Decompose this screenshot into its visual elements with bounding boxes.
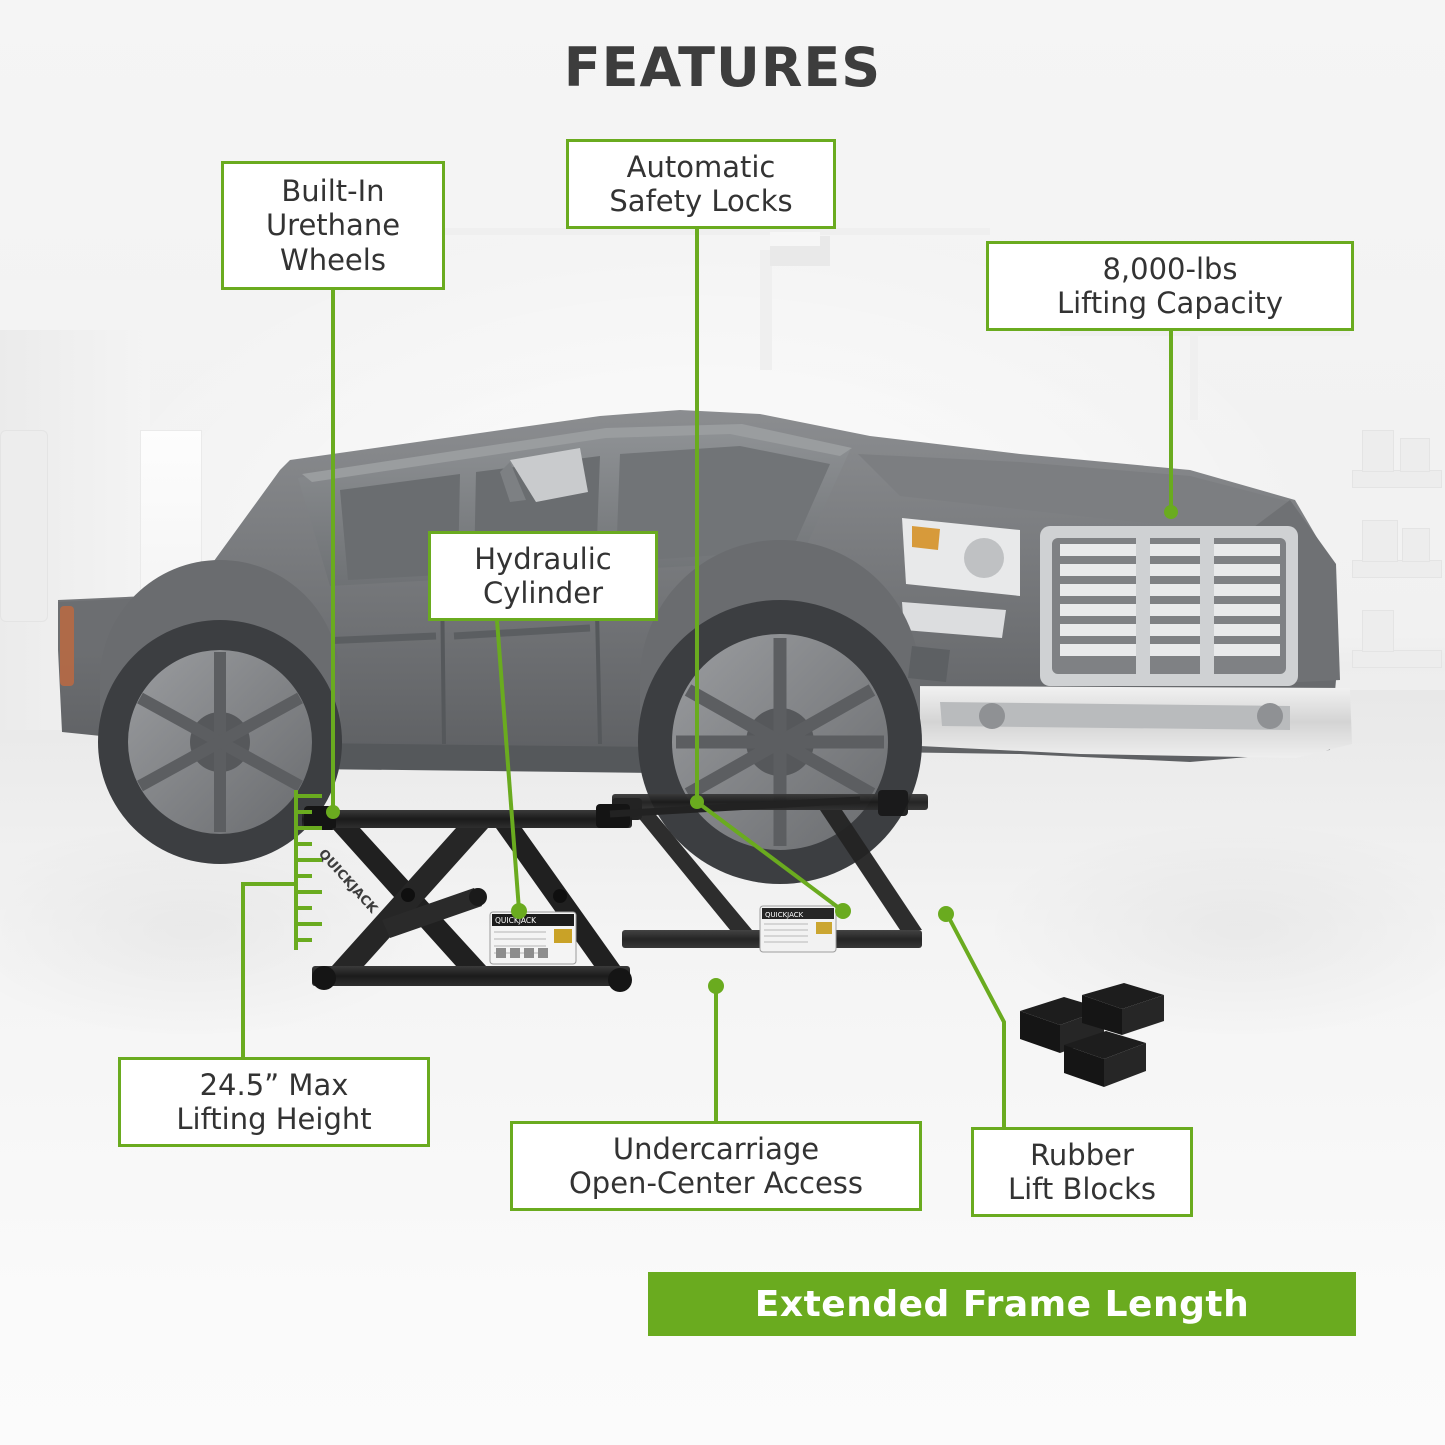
ceiling-beam-1 <box>430 228 990 235</box>
shelf-box-3 <box>1362 520 1398 562</box>
lift-decal-brand-front: QUICKJACK <box>495 916 537 925</box>
callout-label: Hydraulic Cylinder <box>474 542 612 610</box>
shelf-box-1 <box>1362 430 1394 472</box>
callout-rubber-lift-blocks: Rubber Lift Blocks <box>971 1127 1193 1217</box>
page-title: FEATURES <box>0 36 1445 99</box>
extended-frame-length-banner: Extended Frame Length <box>648 1272 1356 1336</box>
callout-built-in-urethane-wheels: Built-In Urethane Wheels <box>221 161 445 290</box>
callout-label: Automatic Safety Locks <box>609 150 792 218</box>
shelf-unit-right-3 <box>1352 650 1442 668</box>
callout-label: 24.5” Max Lifting Height <box>176 1068 371 1136</box>
callout-label: Built-In Urethane Wheels <box>266 174 400 277</box>
shelf-unit-right-1 <box>1352 470 1442 488</box>
rubber-lift-blocks-image <box>1008 983 1172 1095</box>
shelf-box-4 <box>1402 528 1430 562</box>
lift-decal-brand-rear: QUICKJACK <box>765 911 804 919</box>
shelf-unit-right-2 <box>1352 560 1442 578</box>
feature-diagram: QUICKJACK <box>0 0 1445 1445</box>
callout-label: Undercarriage Open-Center Access <box>569 1132 863 1200</box>
callout-label: Rubber Lift Blocks <box>1008 1138 1156 1206</box>
shelf-box-2 <box>1400 438 1430 472</box>
callout-hydraulic-cylinder: Hydraulic Cylinder <box>428 531 658 621</box>
callout-lifting-capacity: 8,000-lbs Lifting Capacity <box>986 241 1354 331</box>
callout-label: 8,000-lbs Lifting Capacity <box>1057 252 1283 320</box>
callout-max-lifting-height: 24.5” Max Lifting Height <box>118 1057 430 1147</box>
callout-automatic-safety-locks: Automatic Safety Locks <box>566 139 836 229</box>
quickjack-lift: QUICKJACK <box>260 770 960 1030</box>
ceiling-light <box>770 232 820 246</box>
shelf-box-5 <box>1362 610 1394 652</box>
callout-undercarriage-open-center-access: Undercarriage Open-Center Access <box>510 1121 922 1211</box>
